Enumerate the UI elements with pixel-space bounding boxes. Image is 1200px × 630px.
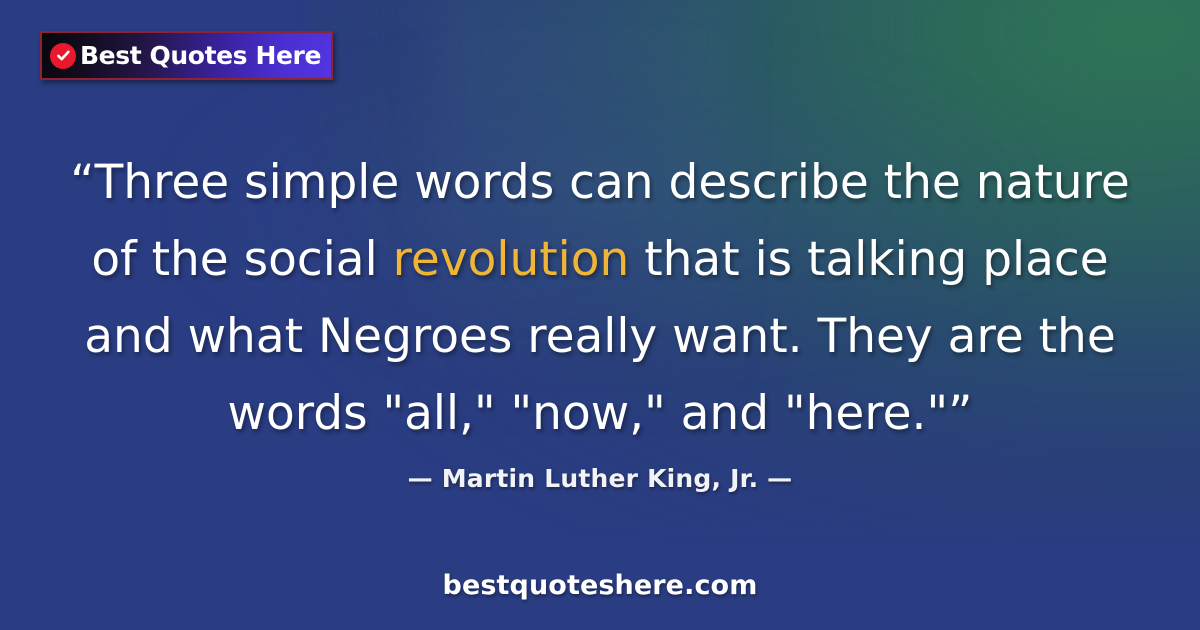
quote-card: Best Quotes Here “Three simple words can… [0,0,1200,630]
site-footer-url: bestquoteshere.com [0,570,1200,601]
quote-line-2: of the social revolution that is talking… [0,221,1200,298]
quote-line-3: and what Negroes really want. They are t… [0,298,1200,375]
quote-line-4-text: words "all," "now," and "here."” [228,386,973,441]
quote-line-1-text: “Three simple words can describe the nat… [70,155,1130,210]
quote-line-2-before: of the social [91,232,392,287]
quote-line-2-after: that is talking place [629,232,1108,287]
quote-highlight-word: revolution [393,232,630,287]
quote-attribution: — Martin Luther King, Jr. — [0,464,1200,493]
quote-line-4: words "all," "now," and "here."” [0,375,1200,452]
quote-line-3-text: and what Negroes really want. They are t… [84,309,1116,364]
quote-text: “Three simple words can describe the nat… [0,144,1200,452]
brand-label: Best Quotes Here [80,43,321,68]
quote-line-1: “Three simple words can describe the nat… [0,144,1200,221]
brand-badge[interactable]: Best Quotes Here [40,31,333,80]
check-circle-icon [50,43,76,69]
